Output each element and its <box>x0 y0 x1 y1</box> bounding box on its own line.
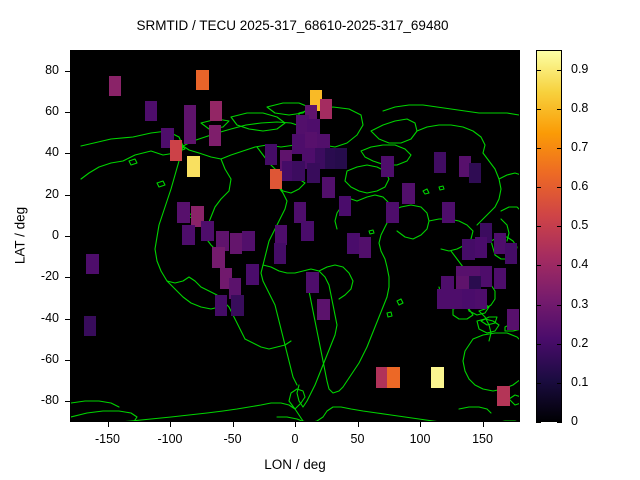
data-cell <box>306 272 319 293</box>
y-tick <box>65 319 70 320</box>
data-cell <box>84 316 97 337</box>
y-tick-label: -40 <box>25 311 59 325</box>
data-cell <box>381 156 394 177</box>
y-tick-label: 80 <box>25 63 59 77</box>
y-tick <box>65 236 70 237</box>
y-tick <box>65 71 70 72</box>
data-cell <box>339 196 352 217</box>
colorbar-tick-label: 0.8 <box>571 101 588 115</box>
data-cell <box>386 202 399 223</box>
colorbar-tick <box>536 265 541 266</box>
y-tick-label: -80 <box>25 393 59 407</box>
colorbar-tick <box>536 148 541 149</box>
data-cell <box>265 144 278 165</box>
colorbar-tick <box>536 383 541 384</box>
data-cell <box>184 105 197 126</box>
y-tick <box>65 112 70 113</box>
data-cell <box>322 177 335 198</box>
colorbar-tick <box>536 109 541 110</box>
colorbar-tick <box>557 265 562 266</box>
data-cell <box>475 237 488 258</box>
data-cell <box>230 233 243 254</box>
colorbar-tick <box>557 70 562 71</box>
data-cell <box>294 202 307 223</box>
colorbar-tick <box>557 344 562 345</box>
data-cell <box>387 367 400 388</box>
data-cell <box>480 266 493 287</box>
y-tick-label: -20 <box>25 269 59 283</box>
x-tick <box>170 422 171 427</box>
colorbar-tick <box>557 226 562 227</box>
colorbar-tick <box>536 226 541 227</box>
data-cell <box>402 183 415 204</box>
y-tick-label: 60 <box>25 104 59 118</box>
x-tick <box>483 422 484 427</box>
colorbar[interactable] <box>536 50 562 422</box>
data-cell <box>246 264 259 285</box>
colorbar-tick-label: 0.3 <box>571 297 588 311</box>
x-tick <box>295 422 296 427</box>
y-tick <box>65 360 70 361</box>
colorbar-tick <box>536 70 541 71</box>
data-cell <box>231 295 244 316</box>
data-cell <box>434 152 447 173</box>
y-tick <box>65 277 70 278</box>
x-tick-label: 0 <box>265 432 325 446</box>
data-cell <box>317 299 330 320</box>
colorbar-tick <box>557 148 562 149</box>
colorbar-tick-label: 0 <box>571 414 578 428</box>
data-cell <box>450 289 463 310</box>
data-cell <box>475 289 488 310</box>
data-cell <box>462 289 475 310</box>
colorbar-tick-label: 0.2 <box>571 336 588 350</box>
colorbar-tick <box>557 383 562 384</box>
data-cell <box>170 140 183 161</box>
data-cell <box>270 169 283 190</box>
x-axis-label: LON / deg <box>70 457 520 472</box>
x-tick <box>108 422 109 427</box>
data-cell <box>431 367 444 388</box>
x-tick-label: 50 <box>328 432 388 446</box>
map-plot-area[interactable] <box>70 50 520 422</box>
colorbar-tick-label: 0.1 <box>571 375 588 389</box>
y-tick-label: 0 <box>25 228 59 242</box>
data-cell <box>196 70 209 91</box>
colorbar-tick <box>557 422 562 423</box>
data-cell <box>437 289 450 310</box>
data-cell <box>215 295 228 316</box>
data-cell <box>242 231 255 252</box>
x-tick-label: -100 <box>140 432 200 446</box>
y-tick-label: 40 <box>25 145 59 159</box>
data-cell <box>187 156 200 177</box>
x-tick-label: 150 <box>453 432 513 446</box>
data-cell <box>335 148 348 169</box>
data-cell <box>507 309 520 330</box>
data-cell <box>292 161 305 182</box>
data-cell <box>442 202 455 223</box>
y-tick <box>65 153 70 154</box>
y-tick <box>65 195 70 196</box>
x-tick-label: -150 <box>78 432 138 446</box>
data-cell <box>177 202 190 223</box>
y-tick <box>65 401 70 402</box>
colorbar-tick-label: 0.9 <box>571 62 588 76</box>
data-cell <box>505 243 518 264</box>
page-title: SRMTID / TECU 2025-317_68610-2025-317_69… <box>0 18 585 33</box>
colorbar-tick-label: 0.4 <box>571 257 588 271</box>
data-cell <box>182 225 195 246</box>
data-cell <box>359 237 372 258</box>
data-cell <box>201 221 214 242</box>
data-cell <box>209 125 222 146</box>
figure-root: SRMTID / TECU 2025-317_68610-2025-317_69… <box>0 0 640 480</box>
data-cell <box>109 76 122 97</box>
data-cell <box>275 225 288 246</box>
x-tick-label: 100 <box>390 432 450 446</box>
colorbar-tick-label: 0.5 <box>571 218 588 232</box>
colorbar-tick <box>536 305 541 306</box>
colorbar-tick <box>557 187 562 188</box>
y-tick-label: -60 <box>25 352 59 366</box>
y-tick-label: 20 <box>25 187 59 201</box>
data-cells-layer <box>71 51 520 422</box>
data-cell <box>494 268 507 289</box>
colorbar-tick-label: 0.7 <box>571 140 588 154</box>
data-cell <box>469 163 482 184</box>
colorbar-tick <box>557 305 562 306</box>
data-cell <box>86 254 99 275</box>
data-cell <box>462 239 475 260</box>
colorbar-tick <box>536 422 541 423</box>
data-cell <box>497 386 510 407</box>
x-tick <box>233 422 234 427</box>
data-cell <box>301 221 314 242</box>
data-cell <box>274 243 287 264</box>
colorbar-tick <box>536 344 541 345</box>
data-cell <box>184 123 197 144</box>
data-cell <box>210 101 223 122</box>
data-cell <box>320 99 333 120</box>
data-cell <box>307 163 320 184</box>
colorbar-tick <box>536 187 541 188</box>
colorbar-tick <box>557 109 562 110</box>
data-cell <box>212 247 225 268</box>
x-tick-label: -50 <box>203 432 263 446</box>
colorbar-tick-label: 0.6 <box>571 179 588 193</box>
colorbar-gradient <box>536 50 562 422</box>
y-axis-label: LAT / deg <box>13 166 28 306</box>
x-tick <box>358 422 359 427</box>
x-tick <box>420 422 421 427</box>
data-cell <box>145 101 158 122</box>
